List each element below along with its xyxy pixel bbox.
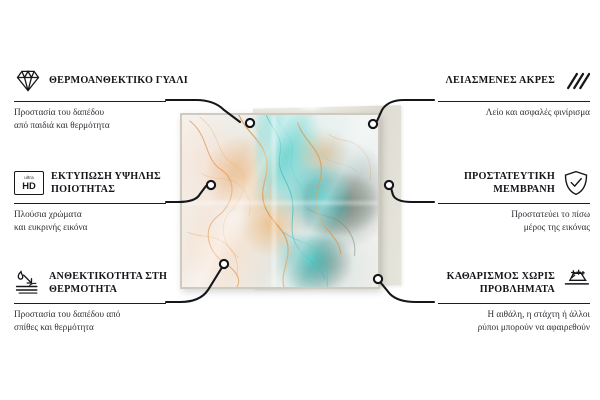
feature-description: Προστασία του δαπέδου από σπίθες και θερ… bbox=[14, 308, 189, 334]
feature-title: ΑΝΘΕΚΤΙΚΟΤΗΤΑ ΣΤΗ ΘΕΡΜΟΤΗΤΑ bbox=[49, 270, 189, 297]
feature-polished-edges: ΛΕΙΑΣΜΕΝΕΣ ΑΚΡΕΣ Λείο και ασφαλές φινίρι… bbox=[415, 64, 590, 119]
feature-description: Πλούσια χρώματα και ευκρινής εικόνα bbox=[14, 208, 189, 234]
feature-heat-resistant-glass: ΘΕΡΜΟΑΝΘΕΚΤΙΚΟ ΓΥΑΛΙ Προστασία του δαπέδ… bbox=[14, 64, 189, 132]
divider bbox=[14, 203, 166, 204]
feature-title: ΘΕΡΜΟΑΝΘΕΚΤΙΚΟ ΓΥΑΛΙ bbox=[49, 74, 188, 87]
product-feature-infographic: ΘΕΡΜΟΑΝΘΕΚΤΙΚΟ ΓΥΑΛΙ Προστασία του δαπέδ… bbox=[0, 0, 600, 400]
feature-title: ΛΕΙΑΣΜΕΝΕΣ ΑΚΡΕΣ bbox=[446, 74, 555, 87]
divider bbox=[438, 303, 590, 304]
feature-heat-durability: ΑΝΘΕΚΤΙΚΟΤΗΤΑ ΣΤΗ ΘΕΡΜΟΤΗΤΑ Προστασία το… bbox=[14, 266, 189, 334]
product-image bbox=[175, 104, 405, 296]
divider bbox=[438, 203, 590, 204]
feature-protective-membrane: ΠΡΟΣΤΑΤΕΥΤΙΚΗ ΜΕΜΒΡΑΝΗ Προστατεύει το πί… bbox=[415, 166, 590, 234]
ultra-hd-badge-icon: ultra HD bbox=[14, 171, 44, 195]
feature-high-quality-print: ultra HD ΕΚΤΥΠΩΣΗ ΥΨΗΛΗΣ ΠΟΙΟΤΗΤΑΣ Πλούσ… bbox=[14, 166, 189, 234]
feature-description: Προστασία του δαπέδου από παιδιά και θερ… bbox=[14, 106, 189, 132]
glass-glare bbox=[295, 98, 325, 112]
feature-description: Λείο και ασφαλές φινίρισμα bbox=[415, 106, 590, 119]
feature-easy-cleaning: ΚΑΘΑΡΙΣΜΟΣ ΧΩΡΙΣ ΠΡΟΒΛΗΜΑΤΑ Η αιθάλη, η … bbox=[415, 266, 590, 334]
divider bbox=[14, 101, 166, 102]
product-artwork bbox=[182, 115, 378, 287]
feature-title: ΚΑΘΑΡΙΣΜΟΣ ΧΩΡΙΣ ΠΡΟΒΛΗΜΑΤΑ bbox=[415, 270, 555, 297]
feature-title: ΠΡΟΣΤΑΤΕΥΤΙΚΗ ΜΕΜΒΡΑΝΗ bbox=[415, 170, 555, 197]
divider bbox=[14, 303, 166, 304]
polished-edges-icon bbox=[562, 67, 590, 95]
diamond-icon bbox=[14, 67, 42, 95]
feature-description: Προστατεύει το πίσω μέρος της εικόνας bbox=[415, 208, 590, 234]
divider bbox=[438, 101, 590, 102]
sponge-sparkle-icon bbox=[562, 269, 590, 297]
product-glass-panel bbox=[180, 113, 380, 289]
feature-description: Η αιθάλη, η στάχτη ή άλλοι ρύποι μπορούν… bbox=[415, 308, 590, 334]
shield-check-icon bbox=[562, 169, 590, 197]
feature-title: ΕΚΤΥΠΩΣΗ ΥΨΗΛΗΣ ΠΟΙΟΤΗΤΑΣ bbox=[51, 170, 189, 197]
flame-deflect-icon bbox=[14, 269, 42, 297]
ultra-hd-bottom-label: HD bbox=[22, 181, 36, 190]
